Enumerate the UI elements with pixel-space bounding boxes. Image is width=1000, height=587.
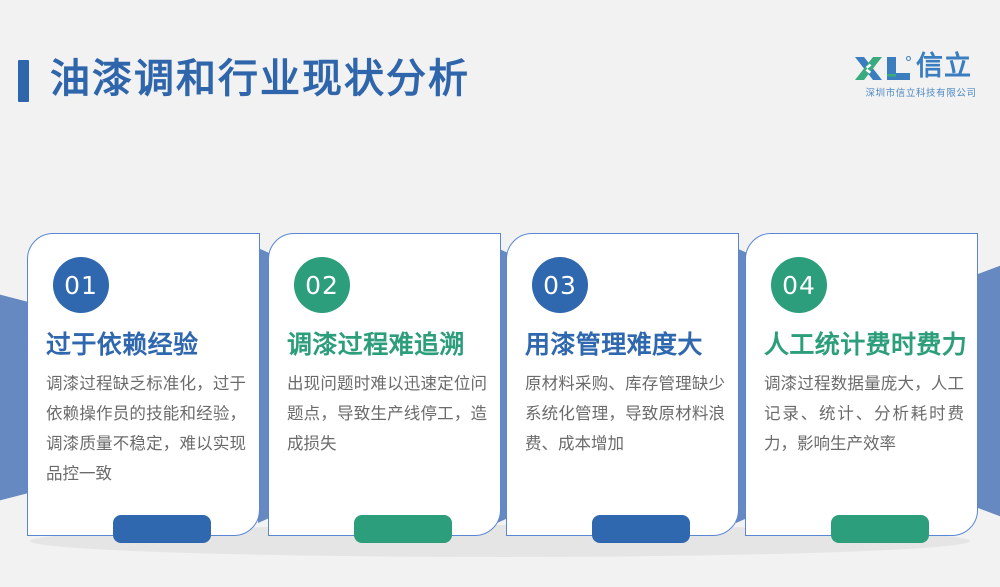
card-title: 过于依赖经验 (46, 329, 246, 361)
card-title: 人工统计费时费力 (764, 329, 964, 361)
card-body-text: 调漆过程数据量庞大，人工记录、统计、分析耗时费力，影响生产效率 (764, 369, 964, 459)
issue-card-row: 01 过于依赖经验 调漆过程缺乏标准化，过于依赖操作员的技能和经验，调漆质量不稳… (0, 0, 1000, 587)
issue-card-04[interactable]: 04 人工统计费时费力 调漆过程数据量庞大，人工记录、统计、分析耗时费力，影响生… (745, 233, 978, 536)
issue-card-03[interactable]: 03 用漆管理难度大 原材料采购、库存管理缺少系统化管理，导致原材料浪费、成本增… (506, 233, 739, 536)
issue-card-02[interactable]: 02 调漆过程难追溯 出现问题时难以迅速定位问题点，导致生产线停工，造成损失 (268, 233, 501, 536)
card-title: 调漆过程难追溯 (287, 329, 487, 361)
card-body-text: 调漆过程缺乏标准化，过于依赖操作员的技能和经验，调漆质量不稳定，难以实现品控一致 (46, 369, 246, 489)
card-title: 用漆管理难度大 (525, 329, 725, 361)
issue-card-01[interactable]: 01 过于依赖经验 调漆过程缺乏标准化，过于依赖操作员的技能和经验，调漆质量不稳… (27, 233, 260, 536)
card-number-badge: 03 (532, 257, 588, 313)
card-body-text: 原材料采购、库存管理缺少系统化管理，导致原材料浪费、成本增加 (525, 369, 725, 459)
card-bottom-bar (113, 515, 211, 543)
card-number-badge: 04 (771, 257, 827, 313)
card-number-badge: 02 (294, 257, 350, 313)
card-bottom-bar (592, 515, 690, 543)
card-bottom-bar (354, 515, 452, 543)
card-number-badge: 01 (53, 257, 109, 313)
card-bottom-bar (831, 515, 929, 543)
slide-canvas: 油漆调和行业现状分析 信立 深圳市信立科技有限公司 (0, 0, 1000, 587)
card-body-text: 出现问题时难以迅速定位问题点，导致生产线停工，造成损失 (287, 369, 487, 459)
